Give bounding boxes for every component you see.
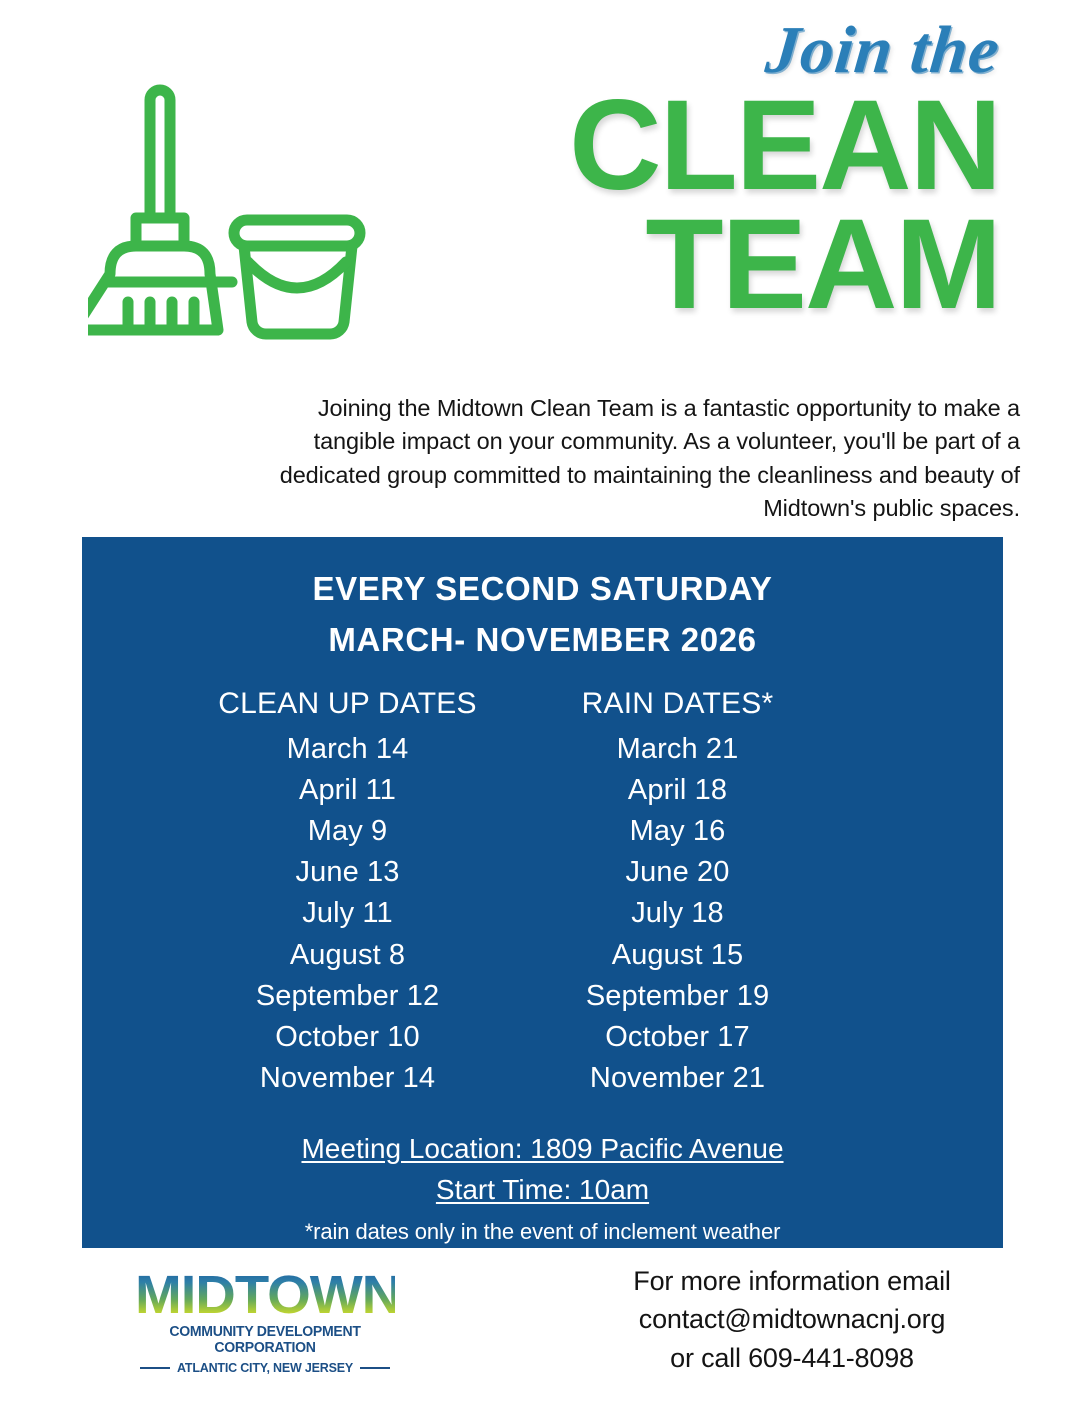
list-item: May 16 [513,811,843,852]
list-item: September 12 [183,976,513,1017]
list-item: April 11 [183,770,513,811]
logo-wordmark: MIDTOWN [135,1268,395,1322]
list-item: November 21 [513,1058,843,1099]
list-item: April 18 [513,770,843,811]
dates-area: CLEAN UP DATES March 14 April 11 May 9 J… [82,685,1003,1099]
flyer-header: Join the CLEAN TEAM [0,0,1088,370]
title-clean: CLEAN [360,88,1000,203]
list-item: May 9 [183,811,513,852]
title-team: TEAM [360,207,1000,322]
list-item: June 20 [513,852,843,893]
flyer-footer: MIDTOWN COMMUNITY DEVELOPMENT CORPORATIO… [0,1258,1088,1408]
broom-and-bucket-icon [88,78,368,343]
rain-dates-column: RAIN DATES* March 21 April 18 May 16 Jun… [513,685,843,1099]
list-item: October 10 [183,1017,513,1058]
list-item: July 11 [183,893,513,934]
logo-rule-left [140,1367,170,1369]
title-block: Join the CLEAN TEAM [360,18,1000,322]
list-item: August 8 [183,935,513,976]
join-the-script-text: Join the [360,18,1007,84]
meeting-info: Meeting Location: 1809 Pacific Avenue St… [82,1129,1003,1210]
clean-up-dates-column: CLEAN UP DATES March 14 April 11 May 9 J… [183,685,513,1099]
panel-heading-line-1: EVERY SECOND SATURDAY [82,563,1003,614]
list-item: March 21 [513,729,843,770]
clean-up-dates-header: CLEAN UP DATES [183,685,513,723]
logo-rule-right [360,1367,390,1369]
list-item: July 18 [513,893,843,934]
logo-tagline-row: ATLANTIC CITY, NEW JERSEY [140,1361,390,1375]
list-item: March 14 [183,729,513,770]
logo-subtitle: COMMUNITY DEVELOPMENT CORPORATION [144,1324,387,1356]
contact-line-intro: For more information email [582,1262,1002,1300]
list-item: September 19 [513,976,843,1017]
list-item: August 15 [513,935,843,976]
rain-date-note: *rain dates only in the event of incleme… [82,1219,1003,1245]
panel-heading-line-2: MARCH- NOVEMBER 2026 [82,614,1003,665]
rain-dates-header: RAIN DATES* [513,685,843,723]
contact-phone: or call 609-441-8098 [582,1339,1002,1377]
intro-paragraph: Joining the Midtown Clean Team is a fant… [272,392,1020,525]
schedule-panel: EVERY SECOND SATURDAY MARCH- NOVEMBER 20… [82,537,1003,1248]
contact-block: For more information email contact@midto… [582,1262,1002,1377]
list-item: June 13 [183,852,513,893]
contact-email: contact@midtownacnj.org [582,1300,1002,1338]
start-time: Start Time: 10am [82,1170,1003,1211]
list-item: November 14 [183,1058,513,1099]
logo-tagline: ATLANTIC CITY, NEW JERSEY [177,1361,353,1375]
midtown-logo: MIDTOWN COMMUNITY DEVELOPMENT CORPORATIO… [140,1268,390,1375]
meeting-location: Meeting Location: 1809 Pacific Avenue [82,1129,1003,1170]
list-item: October 17 [513,1017,843,1058]
